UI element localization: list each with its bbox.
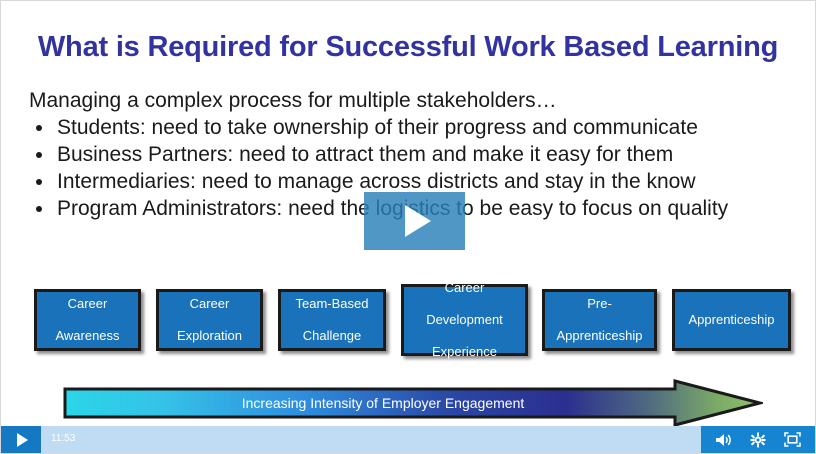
list-item-label: Students: need to take ownership of thei… [57,116,698,139]
pathway-box-career-awareness[interactable]: Career Awareness [34,289,141,351]
bullet-dot-icon [36,206,42,212]
pathway-box-line2: Exploration [173,328,246,344]
pathway-box-line1: Career [422,280,507,296]
page-title: What is Required for Successful Work Bas… [1,31,815,64]
list-item-label: Business Partners: need to attract them … [57,143,673,166]
volume-button[interactable] [715,431,733,449]
slide-canvas: What is Required for Successful Work Bas… [1,1,815,427]
play-button[interactable] [1,426,41,453]
player-right-controls [701,426,815,453]
bullet-dot-icon [36,179,42,185]
pathway-box-line2: Apprenticeship [553,328,647,344]
settings-button[interactable] [749,431,767,449]
play-overlay-icon [405,205,431,237]
list-item: Business Partners: need to attract them … [29,141,799,168]
video-play-overlay-button[interactable] [364,192,465,250]
list-item: Intermediaries: need to manage across di… [29,168,799,195]
current-time-label: 11:53 [51,433,75,444]
arrow-graphic [63,379,763,427]
pathway-box-line1: Apprenticeship [685,312,779,328]
pathway-box-line1: Career [51,296,123,312]
pathway-box-line2: Challenge [292,328,373,344]
play-icon [17,433,28,447]
bullet-dot-icon [36,125,42,131]
employer-engagement-arrow: Increasing Intensity of Employer Engagem… [63,379,763,427]
pathway-box-line3: Experience [422,344,507,360]
pathway-box-apprenticeship[interactable]: Apprenticeship [672,289,791,351]
pathway-box-line2: Awareness [51,328,123,344]
pathway-box-line1: Pre- [553,296,647,312]
pathway-box-team-based-challenge[interactable]: Team-Based Challenge [278,289,386,351]
lead-line: Managing a complex process for multiple … [29,87,799,114]
pathway-box-row: Career Awareness Career Exploration Team… [31,285,791,359]
volume-icon [715,433,733,447]
video-player-frame: What is Required for Successful Work Bas… [0,0,816,454]
pathway-box-pre-apprenticeship[interactable]: Pre- Apprenticeship [542,289,657,351]
fullscreen-button[interactable] [783,431,801,449]
progress-bar[interactable]: 11:53 [41,426,701,453]
list-item-label: Intermediaries: need to manage across di… [57,170,696,193]
pathway-box-career-exploration[interactable]: Career Exploration [156,289,263,351]
fullscreen-icon [784,432,801,447]
pathway-box-line1: Team-Based [292,296,373,312]
pathway-box-line1: Career [173,296,246,312]
video-controls-bar: 11:53 [1,426,815,453]
list-item: Students: need to take ownership of thei… [29,114,799,141]
gear-icon [750,432,766,448]
bullet-dot-icon [36,152,42,158]
pathway-box-career-development-experience[interactable]: Career Development Experience [401,284,528,356]
pathway-box-line2: Development [422,312,507,328]
